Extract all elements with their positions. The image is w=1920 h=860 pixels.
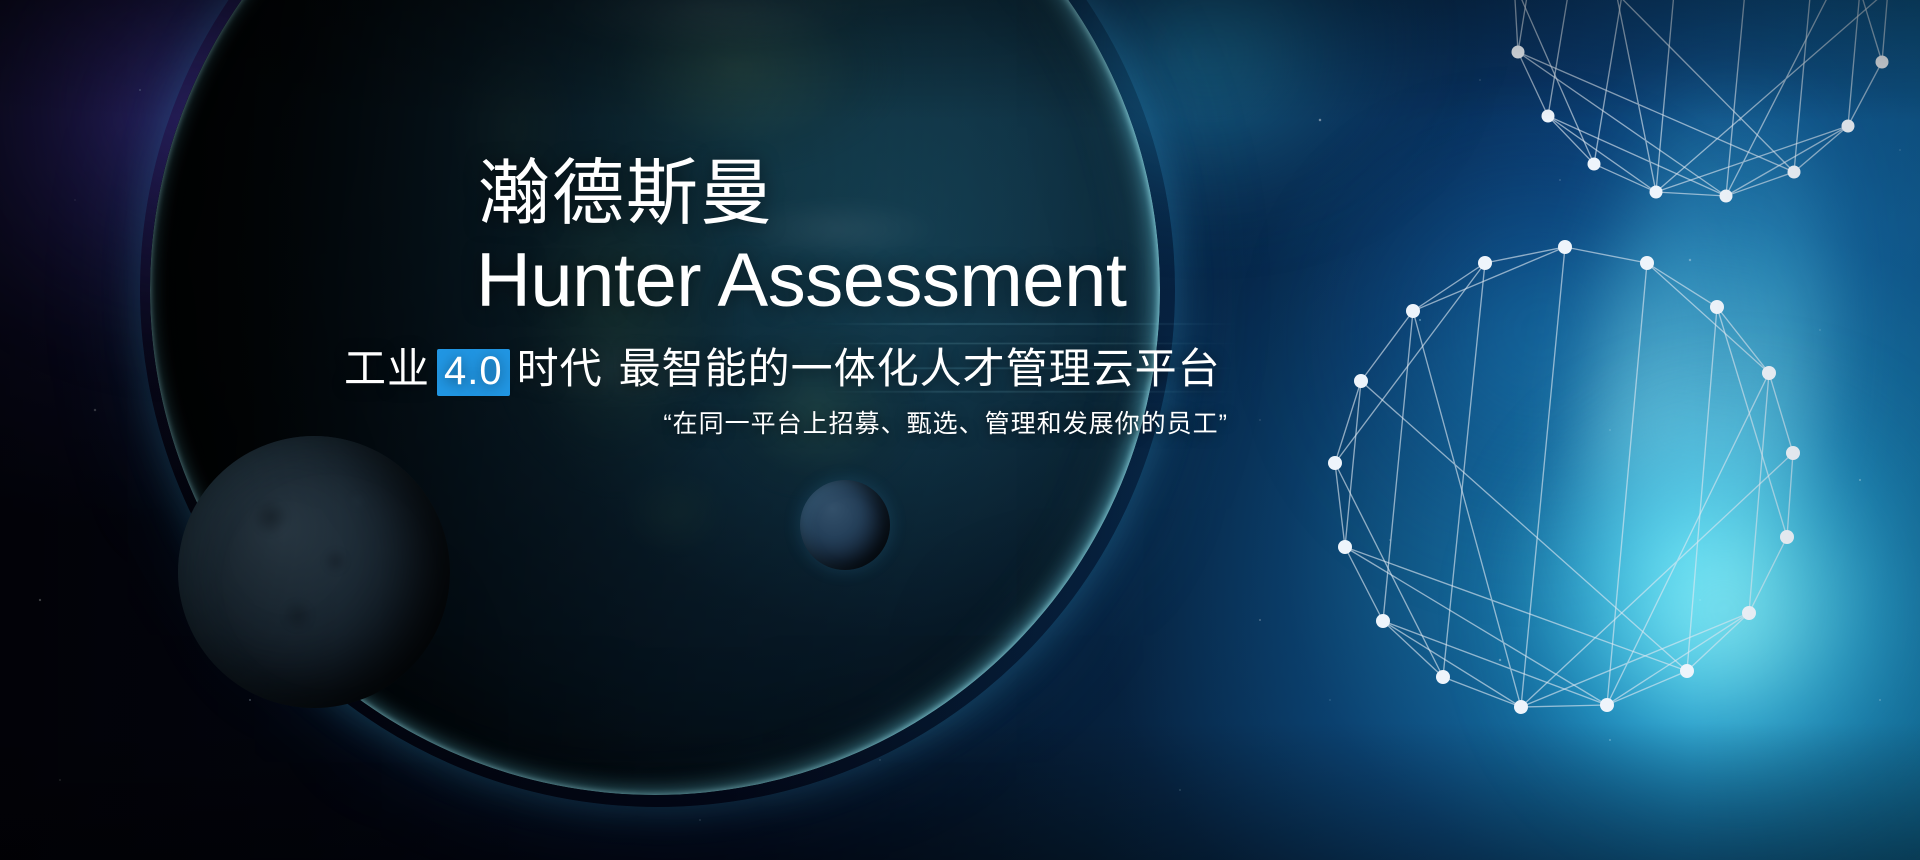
tagline-highlight-badge: 4.0 xyxy=(437,349,510,396)
hero-banner: 瀚德斯曼 Hunter Assessment 工业 4.0 时代 最智能的一体化… xyxy=(0,0,1920,860)
hero-subtitle: “在同一平台上招募、甄选、管理和发展你的员工” xyxy=(0,412,1228,437)
brand-title-english: Hunter Assessment xyxy=(476,243,1126,319)
tagline-prefix: 工业 xyxy=(344,348,430,390)
hero-content: 瀚德斯曼 Hunter Assessment 工业 4.0 时代 最智能的一体化… xyxy=(0,0,1920,860)
tagline: 工业 4.0 时代 最智能的一体化人才管理云平台 xyxy=(344,348,1221,395)
tagline-suffix: 最智能的一体化人才管理云平台 xyxy=(619,348,1221,390)
brand-title-chinese: 瀚德斯曼 xyxy=(478,158,774,230)
tagline-middle: 时代 xyxy=(517,348,603,390)
